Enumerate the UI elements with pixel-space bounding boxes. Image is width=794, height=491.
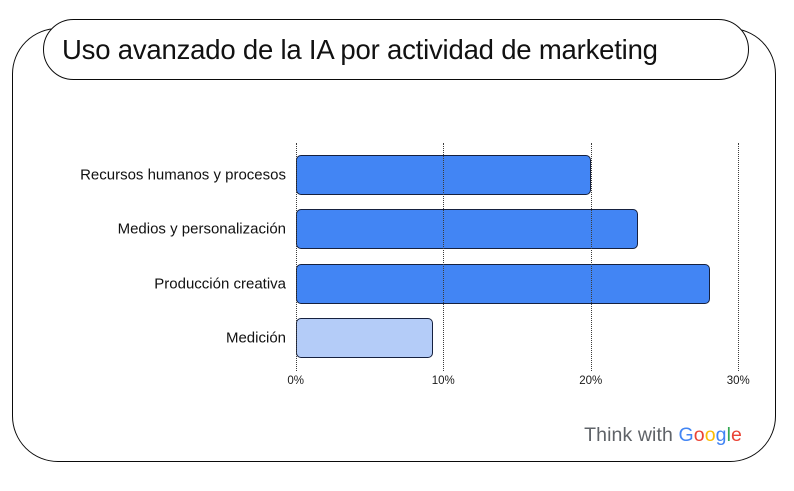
x-tick-label-2: 20% (579, 375, 602, 387)
x-tick-label-3: 30% (727, 375, 750, 387)
plot-area: 0%10%20%30% (296, 143, 739, 367)
page-title: Uso avanzado de la IA por actividad de m… (62, 34, 658, 66)
x-tick-label-1: 10% (432, 375, 455, 387)
category-label-0: Recursos humanos y procesos (16, 167, 286, 184)
gridline-30pct (738, 143, 739, 371)
think-with-google-logo: Think with Google (584, 424, 742, 447)
gridline-0pct (296, 143, 297, 371)
slide-canvas: Uso avanzado de la IA por actividad de m… (0, 0, 794, 491)
twg-prefix-text: Think with (584, 424, 673, 446)
google-letter-g2-icon: g (716, 424, 727, 446)
bar-1[interactable] (296, 209, 638, 249)
gridline-10pct (443, 143, 444, 371)
category-label-2: Producción creativa (16, 275, 286, 292)
bar-3[interactable] (296, 318, 433, 358)
google-letter-e-icon: e (731, 424, 742, 446)
bar-2[interactable] (296, 264, 711, 304)
gridline-20pct (591, 143, 592, 371)
category-label-3: Medición (16, 329, 286, 346)
x-tick-label-0: 0% (287, 375, 304, 387)
google-letter-g-icon: G (678, 424, 693, 446)
google-letter-o2-icon: o (705, 424, 716, 446)
category-label-1: Medios y personalización (16, 221, 286, 238)
title-capsule: Uso avanzado de la IA por actividad de m… (43, 19, 749, 80)
google-letter-o1-icon: o (694, 424, 705, 446)
